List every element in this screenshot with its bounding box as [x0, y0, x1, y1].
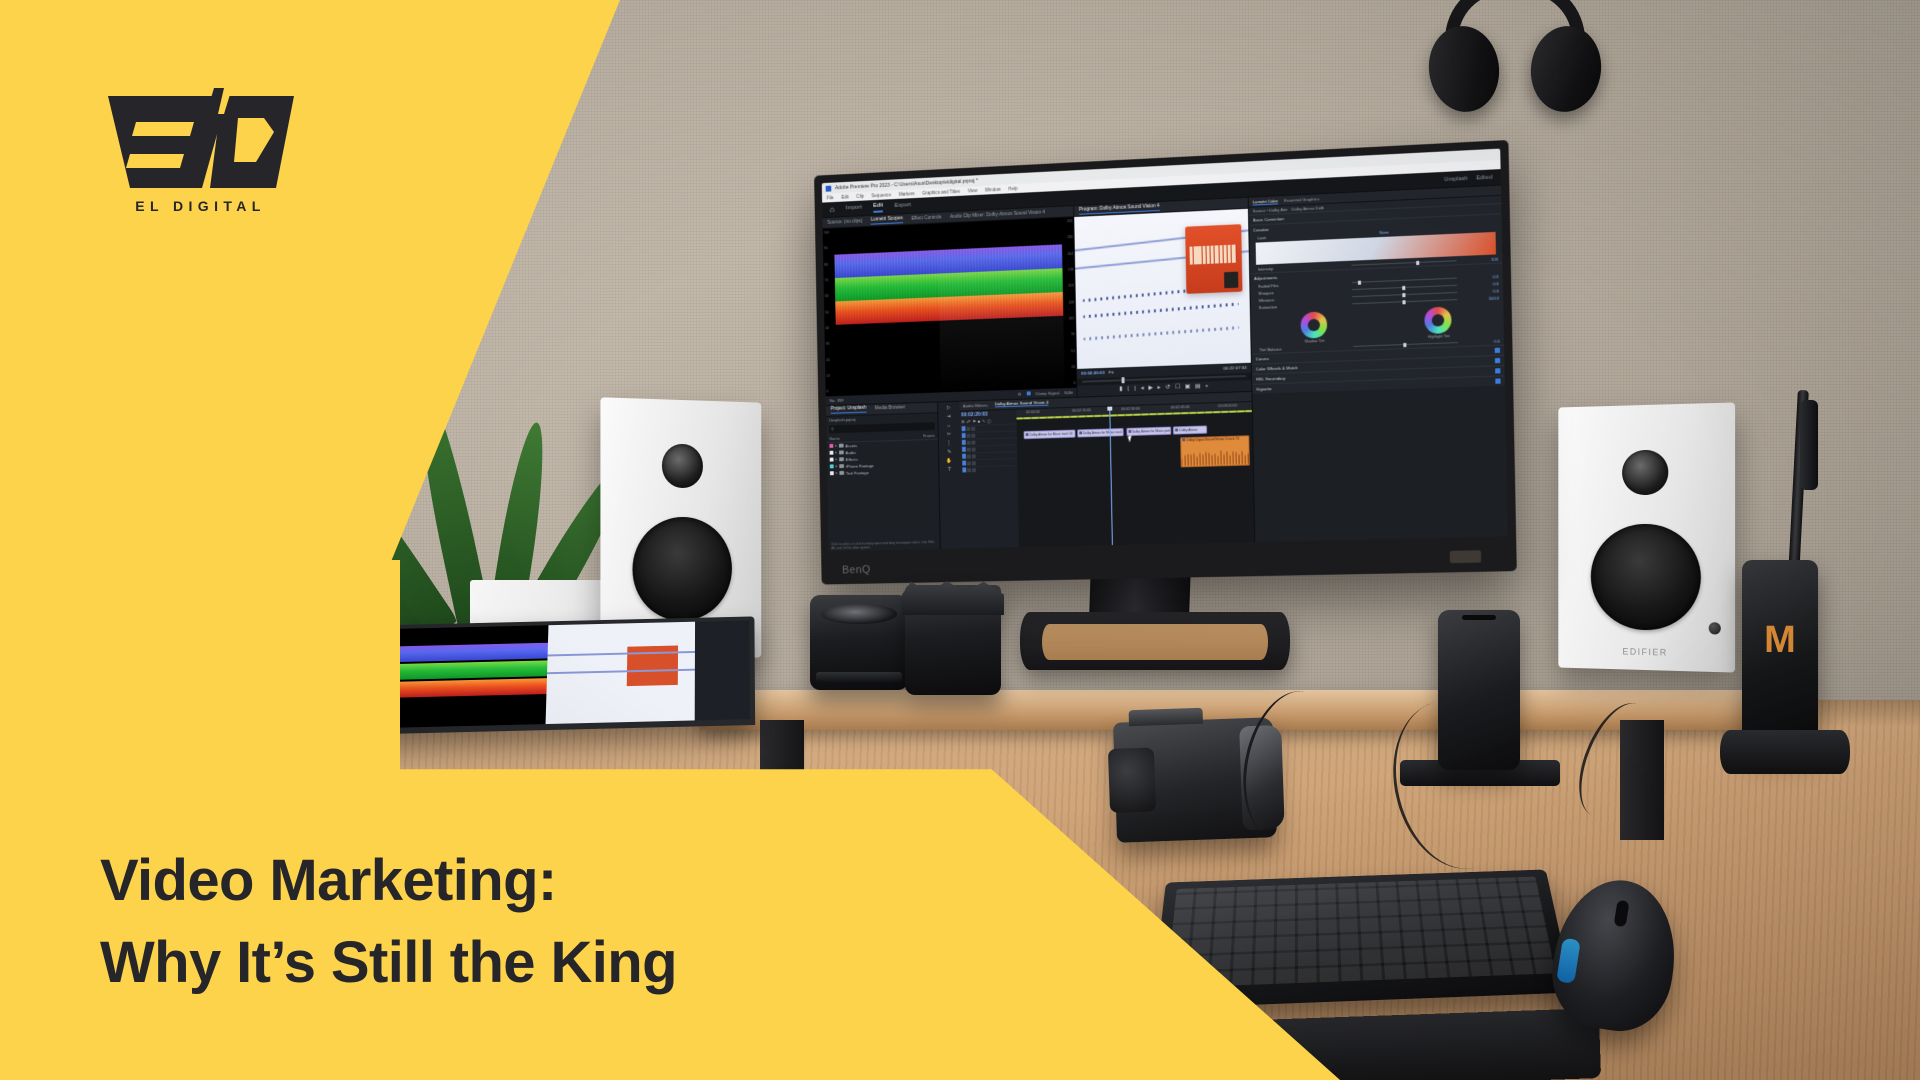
safe-margins-icon[interactable]: ☐ — [1175, 384, 1180, 390]
hand-tool-icon[interactable]: ✋ — [947, 458, 953, 464]
comparison-view-icon[interactable]: ▤ — [1195, 384, 1200, 390]
laptop-screen — [357, 620, 750, 728]
go-to-in-icon[interactable]: } — [1134, 386, 1136, 392]
export-frame-icon[interactable]: ▣ — [1185, 384, 1190, 390]
track-header-row[interactable] — [960, 465, 1018, 474]
menu-file[interactable]: File — [827, 195, 834, 200]
headline-line-2: Why It’s Still the King — [100, 922, 1020, 1004]
column-name: Name — [829, 435, 840, 440]
timeline-tracks[interactable]: 02:00:00 00:02:15:00 00:02:30:00 00:02:4… — [1017, 401, 1255, 547]
folder-icon — [839, 444, 844, 448]
menu-sequence[interactable]: Sequence — [871, 192, 891, 198]
banner-canvas: EDIFIER BenQ Adobe Premiere Pro 2023 - C… — [0, 0, 1920, 1080]
tab-project[interactable]: Project: Unsplash — [831, 406, 867, 414]
razor-tool-icon[interactable]: ✂ — [947, 431, 951, 437]
tab-sequence[interactable]: Dolby Atmos Sound Vision 4 — [995, 400, 1049, 408]
highlight-tint-wheel[interactable]: Highlight Tint — [1425, 306, 1453, 339]
studio-speaker-right: EDIFIER — [1558, 402, 1735, 672]
vignette-checkbox[interactable] — [1495, 378, 1500, 383]
menu-help[interactable]: Help — [1008, 186, 1017, 191]
menu-markers[interactable]: Markers — [899, 191, 915, 197]
ruler-tick: 00:02:30:00 — [1121, 406, 1140, 411]
color-wheels-checkbox[interactable] — [1495, 358, 1500, 363]
billboard-strip — [1190, 245, 1237, 265]
ultrawide-monitor: BenQ Adobe Premiere Pro 2023 - C:\Users\… — [814, 140, 1517, 585]
parade-noise — [834, 218, 1065, 396]
monitor-stand-base — [1020, 612, 1290, 670]
speaker-woofer — [632, 517, 732, 622]
speaker-tweeter — [1622, 450, 1668, 496]
lumetri-color-panel: Lumetri Color Essential Graphics Source … — [1248, 185, 1504, 393]
speaker-woofer — [1591, 524, 1701, 631]
marker-icon[interactable]: ⚑ — [972, 418, 976, 423]
captions-icon[interactable]: ▢ — [987, 418, 991, 423]
step-forward-icon[interactable]: ▸ — [1158, 385, 1161, 391]
camera-lens-hood — [905, 585, 1001, 695]
bin-color-swatch — [830, 458, 834, 462]
play-icon[interactable]: ▶ — [1148, 385, 1152, 391]
program-duration-timecode: 00:22:07:34 — [1223, 365, 1246, 371]
folder-icon — [839, 457, 844, 461]
menu-edit[interactable]: Edit — [841, 194, 849, 199]
folder-icon — [839, 471, 844, 475]
menu-graphics[interactable]: Graphics and Titles — [922, 189, 960, 196]
speaker-tweeter — [661, 444, 703, 489]
bin-label: Effects — [846, 456, 858, 461]
microphone-capsule — [1800, 400, 1818, 490]
ruler-tick: 00:02:45:00 — [1171, 405, 1190, 410]
tab-lumetri-scopes[interactable]: Lumetri Scopes — [871, 216, 903, 224]
mark-in-icon[interactable]: ▮ — [1119, 386, 1122, 392]
clamp-signal-checkbox[interactable] — [1026, 391, 1030, 395]
tab-audio-meters[interactable]: Audio Meters — [963, 402, 988, 408]
scope-frame-number: No. 359 — [830, 397, 844, 402]
bin-label: Audio — [845, 450, 855, 455]
timeline-audio-clip[interactable]: Dolby Digital Sound Vision 3 track 74 — [1181, 435, 1251, 467]
folder-icon — [839, 450, 844, 454]
bin-label: Text Footage — [846, 470, 869, 476]
timeline-toolbar: ▷ ⇥ ↔ ✂ ⋮ ✎ ✋ T — [938, 401, 962, 549]
tab-source[interactable]: Source: (no clips) — [827, 219, 862, 226]
preview-billboard — [1185, 224, 1242, 294]
tab-essential-graphics[interactable]: Essential Graphics — [1284, 196, 1320, 203]
track-select-tool-icon[interactable]: ⇥ — [947, 413, 951, 419]
phone-speaker-notch — [1462, 615, 1496, 620]
camera-lens-mount — [1108, 747, 1156, 813]
timeline-playhead[interactable] — [1109, 406, 1113, 545]
page-title: Video Marketing: Why It’s Still the King — [100, 840, 1020, 1005]
monitor-screen: Adobe Premiere Pro 2023 - C:\Users\Asus\… — [822, 149, 1508, 552]
chevron-right-icon[interactable]: ▸ — [835, 457, 837, 461]
chevron-right-icon[interactable]: ▸ — [835, 451, 837, 455]
project-panel: Project: Unsplash Media Browser Unsplash… — [826, 402, 941, 551]
chevron-right-icon[interactable]: ▸ — [836, 471, 838, 475]
premiere-app-icon — [826, 185, 832, 191]
shadow-tint-wheel[interactable]: Shadow Tint — [1301, 311, 1328, 343]
premiere-pro-window: Adobe Premiere Pro 2023 - C:\Users\Asus\… — [822, 149, 1508, 552]
laptop — [351, 616, 755, 734]
left-column: Source: (no clips) Lumetri Scopes Effect… — [822, 198, 1255, 552]
microphone-logo: M — [1764, 621, 1796, 659]
menu-clip[interactable]: Clip — [856, 194, 864, 199]
tab-edit[interactable]: Edit — [873, 202, 883, 212]
tab-export[interactable]: Export — [894, 202, 911, 211]
folder-icon — [839, 464, 844, 468]
snap-icon[interactable]: ⚙ — [961, 419, 965, 424]
hsl-secondary-checkbox[interactable] — [1495, 368, 1500, 373]
ripple-edit-tool-icon[interactable]: ↔ — [946, 422, 951, 428]
type-tool-icon[interactable]: T — [948, 466, 951, 472]
linked-selection-icon[interactable]: ☍ — [967, 419, 971, 424]
mark-out-icon[interactable]: { — [1127, 386, 1129, 392]
mouse-cursor — [1128, 435, 1134, 442]
tab-media-browser[interactable]: Media Browser — [875, 405, 906, 411]
speaker-volume-knob[interactable] — [1708, 622, 1720, 634]
bin-color-swatch — [830, 451, 834, 455]
tab-lumetri-color[interactable]: Lumetri Color — [1253, 198, 1278, 205]
camera-top-plate — [1129, 708, 1204, 727]
timeline-clip[interactable]: Dolby Atmos for Music part 03 — [1126, 426, 1171, 435]
program-current-timecode[interactable]: 00:02:20:03 — [1081, 370, 1105, 376]
right-column: Lumetri Color Essential Graphics Source … — [1248, 185, 1507, 541]
lower-panels: Project: Unsplash Media Browser Unsplash… — [826, 390, 1254, 551]
bin-label: Assets — [845, 443, 857, 448]
preview-birds — [1083, 326, 1239, 340]
bin-label: iPhone Footage — [846, 463, 874, 469]
bin-color-swatch — [830, 464, 834, 468]
ruler-tick: 02:00:00 — [1026, 409, 1040, 413]
selection-tool-icon[interactable]: ▷ — [947, 404, 951, 410]
preview-birds — [1083, 303, 1239, 319]
tab-import[interactable]: Import — [846, 204, 862, 213]
monitor-brand-label: BenQ — [842, 564, 871, 576]
editor-body: Source: (no clips) Lumetri Scopes Effect… — [822, 185, 1507, 551]
menu-window[interactable]: Window — [985, 187, 1001, 193]
monitor-bezel-badge — [1450, 550, 1481, 563]
menu-view[interactable]: View — [968, 188, 978, 193]
fit-select[interactable]: Fit — [1109, 370, 1114, 375]
chevron-right-icon[interactable]: ▸ — [835, 464, 837, 468]
laptop-program-preview — [546, 622, 696, 724]
bit-depth-select[interactable]: 8-Bit — [1064, 389, 1073, 394]
lumetri-scopes-panel[interactable]: 100 90 80 70 60 50 40 30 — [823, 217, 1077, 396]
chevron-right-icon[interactable]: ▸ — [835, 444, 837, 448]
program-video-preview[interactable] — [1074, 209, 1250, 369]
timeline-clip[interactable]: Dolby Atmos for Music track 01 — [1024, 429, 1075, 438]
wrench-icon[interactable]: ⚙ — [1018, 391, 1022, 396]
laptop-side-panel — [695, 620, 750, 720]
tab-effect-controls[interactable]: Effect Controls — [911, 215, 941, 221]
timeline-main: 00:02:20:03 ⚙ ☍ ⚑ ■ ✎ ▢ — [959, 401, 1254, 548]
billboard-tag — [1224, 272, 1239, 289]
button-editor-icon[interactable]: + — [1205, 383, 1208, 389]
camera-lens — [810, 595, 908, 690]
home-icon[interactable]: ⌂ — [830, 205, 835, 214]
speaker-brand-label: EDIFIER — [1623, 646, 1668, 657]
headphones — [1415, 0, 1615, 140]
slip-tool-icon[interactable]: ⋮ — [947, 440, 952, 446]
settings-icon[interactable]: ✎ — [982, 418, 985, 423]
step-back-icon[interactable]: ◂ — [1141, 386, 1144, 392]
microphone-base — [1720, 730, 1850, 774]
mouse-scroll-wheel[interactable] — [1614, 900, 1630, 928]
curves-checkbox[interactable] — [1495, 348, 1500, 353]
mouse-side-glow — [1556, 938, 1581, 984]
microphone-shock-mount: M — [1742, 560, 1818, 750]
bin-color-swatch — [829, 444, 833, 448]
scrubber-playhead[interactable] — [1122, 377, 1125, 383]
insert-icon[interactable]: ■ — [978, 418, 980, 423]
keyboard-keys — [1166, 877, 1556, 988]
timeline-clip[interactable]: Dolby Atmos — [1173, 425, 1206, 434]
pen-tool-icon[interactable]: ✎ — [947, 449, 951, 455]
tab-audio-clip-mixer[interactable]: Audio Clip Mixer: Dolby Atmos Sound Visi… — [950, 210, 1045, 219]
timeline-panel: Audio Meters Dolby Atmos Sound Vision 4 … — [959, 391, 1254, 548]
project-hint-text: Click to select, or click in empty space… — [828, 539, 939, 551]
workspace-name[interactable]: Unsplash — [1444, 175, 1468, 182]
clamp-signal-label: Clamp Signal — [1035, 390, 1059, 396]
brand-name: EL DIGITAL — [98, 198, 303, 214]
search-icon: ⚲ — [831, 426, 834, 431]
loop-icon[interactable]: ↺ — [1165, 385, 1170, 391]
program-monitor-panel: Program: Dolby Atmos Sound Vision 4 — [1074, 198, 1251, 397]
workspace-status: Edited — [1476, 174, 1492, 181]
track-headers: 00:02:20:03 ⚙ ☍ ⚑ ■ ✎ ▢ — [959, 409, 1019, 548]
eld-monogram-icon — [98, 88, 303, 188]
color-wheel-icon[interactable] — [1301, 311, 1328, 338]
audio-waveform — [1182, 444, 1249, 466]
ruler-tick: 00:02:15:00 — [1072, 408, 1091, 413]
brand-logo[interactable]: EL DIGITAL — [98, 88, 303, 214]
ruler-tick: 00:03:00:00 — [1218, 403, 1237, 408]
column-frame: Frame — [923, 432, 935, 437]
rgb-parade-graph — [834, 218, 1065, 396]
bin-color-swatch — [830, 471, 834, 475]
timeline-clip[interactable]: Dolby Atmos for Music track 02 — [1077, 428, 1124, 437]
color-wheel-icon[interactable] — [1425, 306, 1452, 334]
headline-line-1: Video Marketing: — [100, 848, 557, 913]
